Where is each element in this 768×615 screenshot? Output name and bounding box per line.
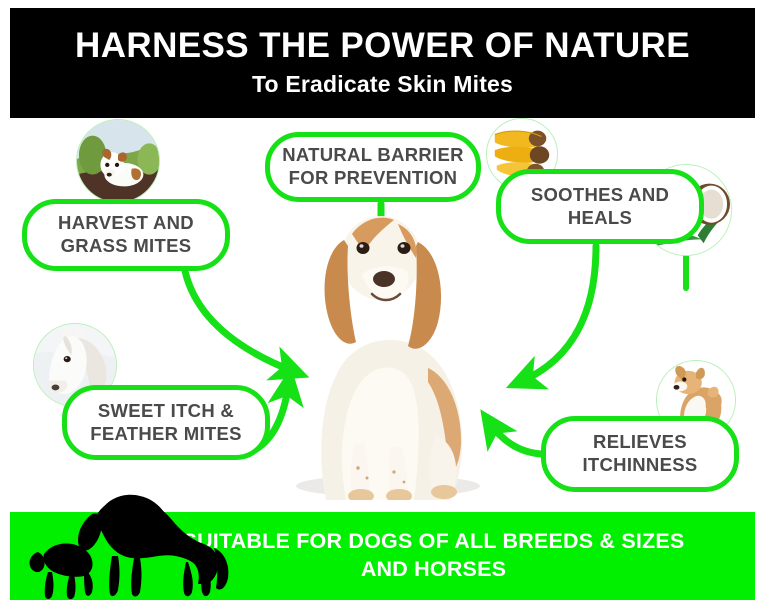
callout-barrier-line1: NATURAL BARRIER <box>282 144 464 167</box>
callout-soothes-and-heals[interactable]: SOOTHES AND HEALS <box>496 169 704 244</box>
callout-natural-barrier-for-prevention[interactable]: NATURAL BARRIER FOR PREVENTION <box>265 132 481 202</box>
callout-relieves-text: RELIEVES ITCHINNESS <box>582 431 697 476</box>
diagram-stage: HARVEST AND GRASS MITES NATURAL BARRIER … <box>0 118 768 512</box>
callout-barrier-text: NATURAL BARRIER FOR PREVENTION <box>282 144 464 189</box>
horse-and-dog-silhouette-icon <box>22 490 252 600</box>
callout-sweet-itch-text: SWEET ITCH & FEATHER MITES <box>90 400 242 445</box>
callout-sweet-itch-line1: SWEET ITCH & <box>90 400 242 423</box>
footer-banner: SUITABLE FOR DOGS OF ALL BREEDS & SIZES … <box>10 512 755 600</box>
callout-harvest-text: HARVEST AND GRASS MITES <box>58 212 194 257</box>
callout-barrier-line2: FOR PREVENTION <box>282 167 464 190</box>
infographic-poster: HARNESS THE POWER OF NATURE To Eradicate… <box>0 0 768 615</box>
callout-relieves-line2: ITCHINNESS <box>582 454 697 477</box>
page-subtitle: To Eradicate Skin Mites <box>252 71 513 98</box>
arrow-soothes-to-dog <box>520 246 596 382</box>
callout-relieves-line1: RELIEVES <box>582 431 697 454</box>
arrow-relieves-to-dog <box>489 422 541 454</box>
callout-sweet-itch-and-feather-mites[interactable]: SWEET ITCH & FEATHER MITES <box>62 385 270 460</box>
callout-harvest-and-grass-mites[interactable]: HARVEST AND GRASS MITES <box>22 199 230 271</box>
centre-dog-photo <box>268 200 496 500</box>
page-title: HARNESS THE POWER OF NATURE <box>75 28 690 65</box>
callout-sweet-itch-line2: FEATHER MITES <box>90 423 242 446</box>
callout-relieves-itchinness[interactable]: RELIEVES ITCHINNESS <box>541 416 739 492</box>
callout-soothes-line1: SOOTHES AND <box>531 184 669 207</box>
callout-harvest-line2: GRASS MITES <box>58 235 194 258</box>
callout-soothes-text: SOOTHES AND HEALS <box>531 184 669 229</box>
callout-harvest-line1: HARVEST AND <box>58 212 194 235</box>
terrier-in-grass-icon <box>76 119 160 203</box>
callout-soothes-line2: HEALS <box>531 207 669 230</box>
header-banner: HARNESS THE POWER OF NATURE To Eradicate… <box>10 8 755 118</box>
